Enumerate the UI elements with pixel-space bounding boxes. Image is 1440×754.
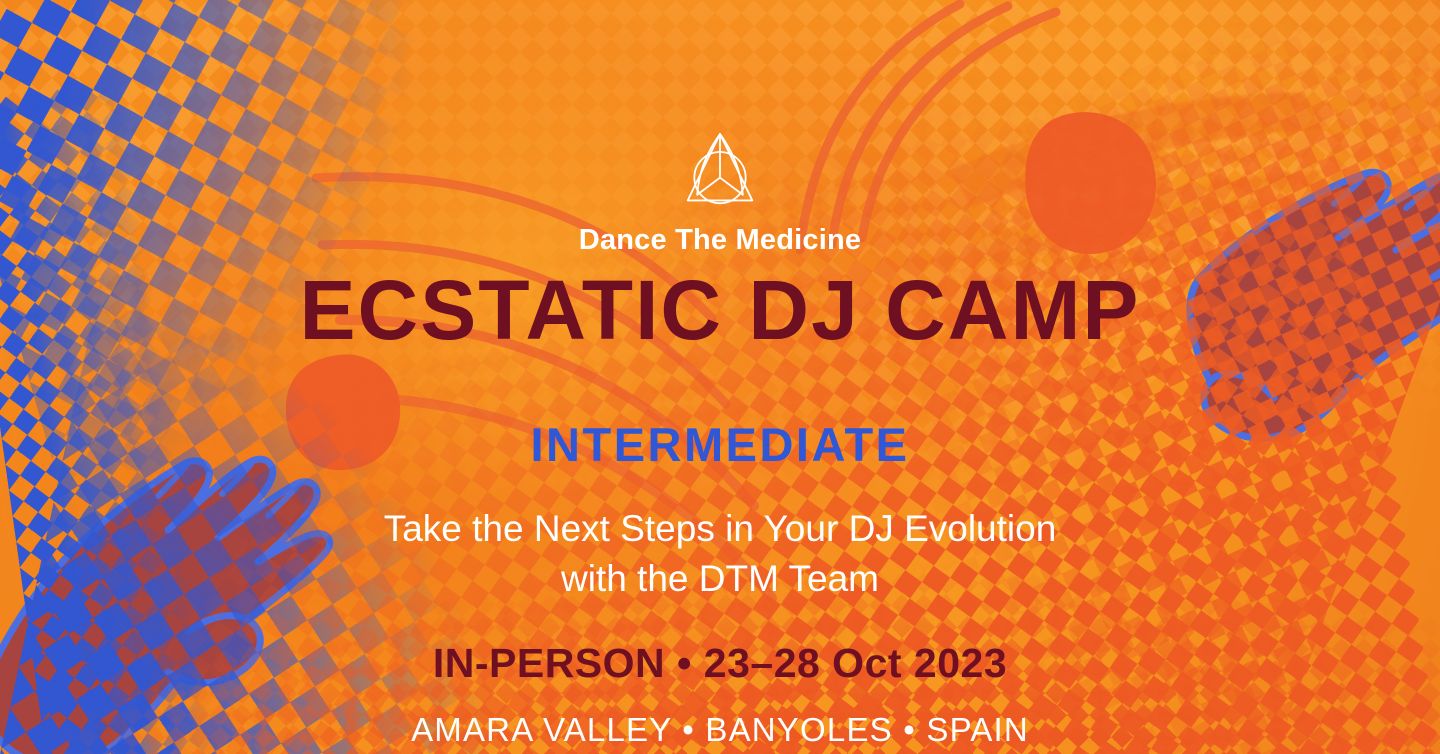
poster-dateline: IN-PERSON • 23–28 Oct 2023 [433, 640, 1007, 687]
brand-name: Dance The Medicine [579, 224, 861, 257]
poster-level-badge: INTERMEDIATE [530, 417, 909, 472]
poster-content: Dance The Medicine ECSTATIC DJ CAMP INTE… [0, 0, 1440, 754]
tagline-line-1: Take the Next Steps in Your DJ Evolution [384, 504, 1057, 554]
poster-tagline: Take the Next Steps in Your DJ Evolution… [384, 504, 1057, 604]
triquetra-triangle-circle-logo-icon [682, 128, 758, 214]
poster-location: AMARA VALLEY • BANYOLES • SPAIN [411, 711, 1029, 749]
tagline-line-2: with the DTM Team [384, 554, 1057, 604]
poster-title: ECSTATIC DJ CAMP [300, 271, 1141, 351]
event-promo-poster: Dance The Medicine ECSTATIC DJ CAMP INTE… [0, 0, 1440, 754]
